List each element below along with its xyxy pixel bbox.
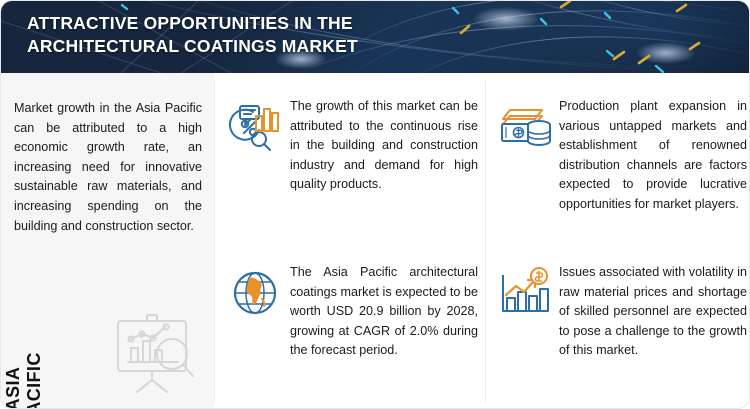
challenges-text: Issues associated with volatility in raw… xyxy=(559,263,747,361)
percent-magnifier-bar-chart-icon xyxy=(228,99,284,155)
content-area: Market growth in the Asia Pacific can be… xyxy=(1,73,750,409)
market-forecast-text: The Asia Pacific architectural coatings … xyxy=(290,263,478,361)
column-divider-1 xyxy=(214,81,215,402)
market-growth-attribution-text: The growth of this market can be attribu… xyxy=(290,97,478,195)
globe-icon xyxy=(228,265,284,321)
page-title: ATTRACTIVE OPPORTUNITIES IN THE ARCHITEC… xyxy=(27,12,447,58)
region-label: ASIA PACIFIC xyxy=(0,338,117,394)
header-banner: ATTRACTIVE OPPORTUNITIES IN THE ARCHITEC… xyxy=(1,1,750,73)
region-label-line1: ASIA xyxy=(3,329,24,409)
presentation-chart-magnifier-icon xyxy=(109,312,205,396)
page-title-line1: ATTRACTIVE OPPORTUNITIES IN THE xyxy=(27,13,353,33)
column-divider-2 xyxy=(485,81,486,402)
bar-chart-trend-dollar-icon xyxy=(497,265,553,321)
page-title-line2: ARCHITECTURAL COATINGS MARKET xyxy=(27,35,447,58)
money-banknotes-coins-icon xyxy=(497,99,553,155)
opportunities-text: Production plant expansion in various un… xyxy=(559,97,747,215)
region-label-line2: PACIFIC xyxy=(24,329,45,409)
infographic-card: ATTRACTIVE OPPORTUNITIES IN THE ARCHITEC… xyxy=(0,0,750,409)
market-growth-drivers-text: Market growth in the Asia Pacific can be… xyxy=(14,99,202,236)
